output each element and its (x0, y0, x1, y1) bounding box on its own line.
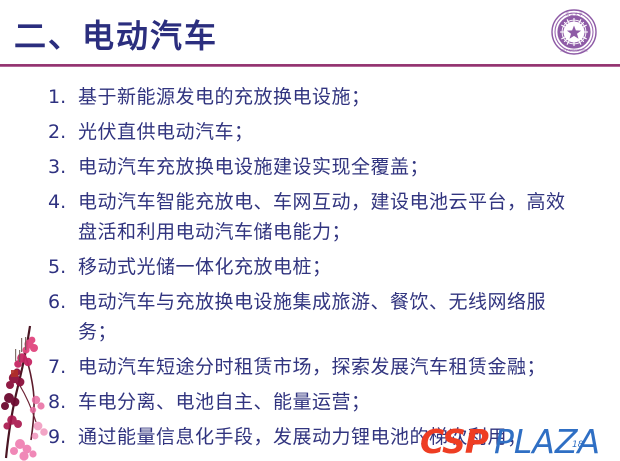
list-item-number: 4. (48, 187, 78, 217)
list-item-text: 移动式光储一体化充放电桩； (78, 252, 600, 282)
title-divider (0, 64, 620, 67)
watermark-primary-text: CSP (420, 424, 488, 460)
list-item-number: 2. (48, 117, 78, 147)
list-item-number: 3. (48, 152, 78, 182)
list-item: 5. 移动式光储一体化充放电桩； (48, 252, 600, 282)
list-item-text: 电动汽车充放换电设施建设实现全覆盖； (78, 152, 600, 182)
list-item-number: 8. (48, 387, 78, 417)
list-item-text: 电动汽车与充放换电设施集成旅游、餐饮、无线网络服务； (78, 287, 568, 347)
list-item-text: 电动汽车智能充放电、车网互动，建设电池云平台，高效盘活和利用电动汽车储电能力； (78, 187, 568, 247)
bullet-list: 1. 基于新能源发电的充放换电设施； 2. 光伏直供电动汽车； 3. 电动汽车充… (48, 82, 600, 457)
list-item: 3. 电动汽车充放换电设施建设实现全覆盖； (48, 152, 600, 182)
list-item: 6. 电动汽车与充放换电设施集成旅游、餐饮、无线网络服务； (48, 287, 600, 347)
watermark-subscript: 18 (572, 440, 583, 450)
list-item-text: 电动汽车短途分时租赁市场，探索发展汽车租赁金融； (78, 352, 600, 382)
slide-canvas: 二、电动汽车 清 华 大 学 SELF-DISCIPLINE (0, 0, 620, 461)
list-item-text: 光伏直供电动汽车； (78, 117, 600, 147)
svg-text:SELF-DISCIPLINE: SELF-DISCIPLINE (560, 49, 588, 53)
list-item-number: 9. (48, 422, 78, 452)
csp-plaza-watermark: CSP PLAZA 18 (420, 424, 610, 460)
list-item-number: 7. (48, 352, 78, 382)
list-item-number: 6. (48, 287, 78, 317)
list-item-text: 基于新能源发电的充放换电设施； (78, 82, 600, 112)
list-item: 1. 基于新能源发电的充放换电设施； (48, 82, 600, 112)
list-item-text: 车电分离、电池自主、能量运营； (78, 387, 600, 417)
list-item-number: 1. (48, 82, 78, 112)
list-item: 4. 电动汽车智能充放电、车网互动，建设电池云平台，高效盘活和利用电动汽车储电能… (48, 187, 600, 247)
university-seal-icon: 清 华 大 学 SELF-DISCIPLINE (551, 9, 597, 55)
list-item-number: 5. (48, 252, 78, 282)
list-item: 7. 电动汽车短途分时租赁市场，探索发展汽车租赁金融； (48, 352, 600, 382)
page-title: 二、电动汽车 (14, 16, 218, 56)
svg-text:清 华 大 学: 清 华 大 学 (566, 12, 583, 17)
watermark-secondary-text: PLAZA (494, 424, 600, 460)
title-bar: 二、电动汽车 (0, 0, 620, 66)
list-item: 2. 光伏直供电动汽车； (48, 117, 600, 147)
list-item: 8. 车电分离、电池自主、能量运营； (48, 387, 600, 417)
